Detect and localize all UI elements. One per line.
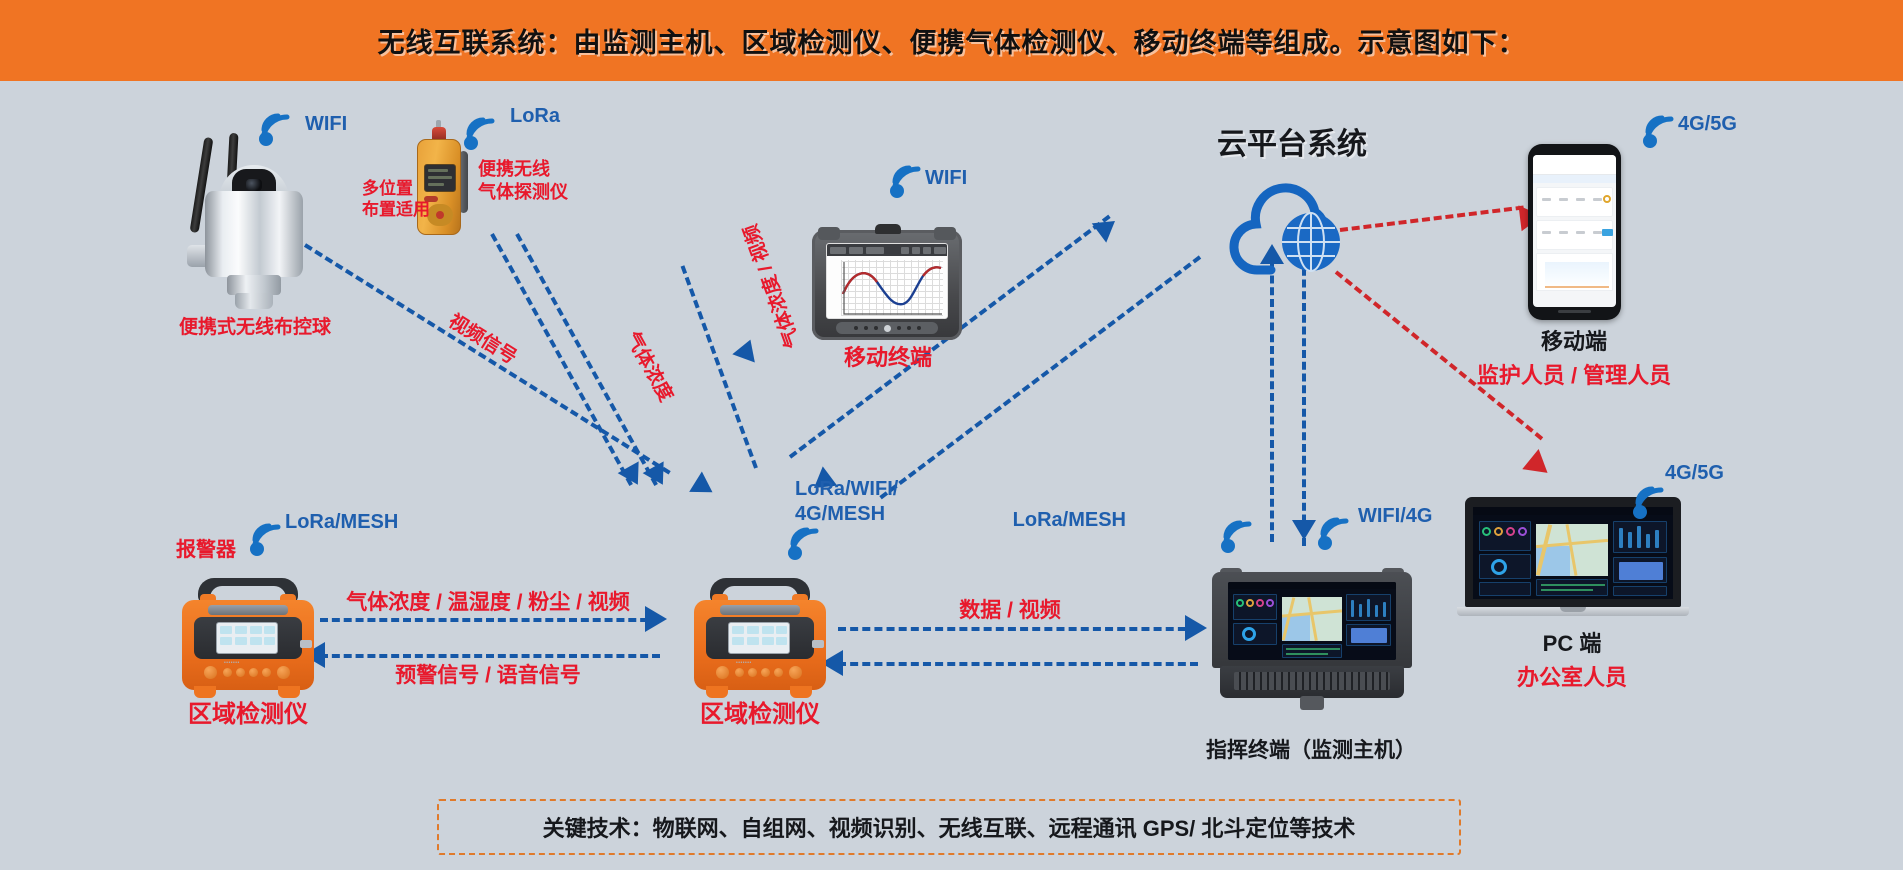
link-cloud-to-pc — [1335, 270, 1543, 440]
phone-status-bar — [1533, 155, 1616, 164]
wifi-icon — [1631, 481, 1673, 519]
arrow-cloud-to-pc — [1522, 449, 1555, 483]
command-screen[interactable] — [1228, 582, 1396, 660]
key-technology-box: 关键技术：物联网、自组网、视频识别、无线互联、远程通讯 GPS/ 北斗定位等技术 — [437, 799, 1461, 855]
alarm-note-label: 报警器 — [176, 538, 236, 563]
command-map-panel — [1282, 597, 1342, 641]
link-camera-to-detector — [304, 243, 671, 474]
wifi-icon — [1316, 512, 1358, 550]
area-detector-device: ••••••• — [690, 578, 830, 698]
phone-body — [1528, 144, 1621, 320]
wifi-icon — [1641, 110, 1683, 148]
detector-sensor-port — [300, 640, 312, 648]
laptop-screen[interactable] — [1473, 507, 1673, 599]
detector-display — [728, 622, 790, 654]
mobile-app-label: 移动端 — [1541, 328, 1607, 356]
header-banner: 无线互联系统：由监测主机、区域检测仪、便携气体检测仪、移动终端等组成。示意图如下… — [0, 0, 1903, 81]
command-terminal-label: 指挥终端（监测主机） — [1206, 738, 1416, 764]
detector-brand: ••••••• — [224, 660, 240, 666]
command-dashboard — [1228, 582, 1396, 660]
arrow-cloud-to-command — [1292, 520, 1316, 540]
laptop-notch — [1560, 607, 1586, 612]
tablet-camera-icon — [875, 224, 901, 234]
mobile-app-device — [1528, 144, 1621, 320]
camera-ball-label: 便携式无线布控球 — [179, 316, 331, 340]
rugged-lid — [1212, 572, 1412, 668]
pc-signal-label: 4G/5G — [1665, 461, 1724, 486]
camera-ball-device — [175, 135, 335, 315]
link-detector-to-mobile-terminal — [681, 265, 758, 468]
tablet-corner-left — [818, 227, 840, 240]
link-label-detector-uplink: 气体浓度 / 温湿度 / 粉尘 / 视频 — [346, 590, 630, 616]
tablet-shell — [812, 230, 962, 340]
handheld-dpad[interactable] — [427, 204, 453, 226]
diagram-canvas: 无线互联系统：由监测主机、区域检测仪、便携气体检测仪、移动终端等组成。示意图如下… — [0, 0, 1903, 870]
rugged-keyboard[interactable] — [1234, 672, 1390, 690]
tablet-status-bar — [827, 244, 948, 256]
detector-button-6[interactable] — [789, 666, 802, 679]
alarm-detector-device: ••••••• — [178, 578, 318, 698]
detector-button-3[interactable] — [748, 668, 757, 677]
detector-foot-left — [194, 686, 216, 698]
detector-brand: ••••••• — [736, 660, 752, 666]
phone-card-2 — [1536, 220, 1613, 250]
detector-button-5[interactable] — [262, 668, 271, 677]
pc-dashboard — [1473, 507, 1673, 599]
camera-base — [235, 293, 273, 309]
phone-screen[interactable] — [1533, 155, 1616, 307]
detector-display — [216, 622, 278, 654]
phone-tab-strip — [1533, 175, 1616, 183]
link-cloud-to-command — [1302, 256, 1306, 546]
area-detector-label: 区域检测仪 — [700, 700, 820, 730]
detector-sensor-port — [812, 640, 824, 648]
handheld-placement-note: 多位置 布置适用 — [362, 178, 430, 221]
detector-foot-right — [790, 686, 812, 698]
link-area-to-command-top — [838, 627, 1198, 631]
detector-button-6[interactable] — [277, 666, 290, 679]
tablet-trend-chart — [841, 260, 943, 316]
rugged-base — [1220, 666, 1404, 698]
link-command-to-cloud — [1270, 252, 1274, 542]
rugged-trackpad[interactable] — [1300, 696, 1324, 710]
link-label-data-video: 数据 / 视频 — [959, 598, 1061, 624]
camera-signal-label: WIFI — [305, 112, 347, 137]
phone-chart-card — [1536, 253, 1613, 291]
link-label-detector-downlink: 预警信号 / 语音信号 — [395, 663, 581, 689]
link-command-to-area-bottom — [838, 662, 1198, 666]
detector-button-5[interactable] — [774, 668, 783, 677]
pc-map-panel — [1536, 524, 1608, 576]
area-detector-signal-label: LoRa/WIFI/ 4G/MESH — [795, 477, 898, 527]
wifi-icon — [786, 522, 828, 560]
wifi-icon — [462, 112, 504, 150]
wifi-icon — [1219, 515, 1261, 553]
header-title: 无线互联系统：由监测主机、区域检测仪、便携气体检测仪、移动终端等组成。示意图如下… — [378, 21, 1526, 60]
command-signal-left-label: LoRa/MESH — [1013, 508, 1126, 533]
link-area-to-alarm-bottom — [320, 654, 660, 658]
cloud-globe-icon — [1223, 170, 1373, 295]
detector-button-3[interactable] — [236, 668, 245, 677]
detector-button-4[interactable] — [249, 668, 258, 677]
key-technology-text: 关键技术：物联网、自组网、视频识别、无线互联、远程通讯 GPS/ 北斗定位等技术 — [543, 811, 1356, 843]
wifi-icon — [888, 160, 930, 198]
cloud-platform-label: 云平台系统 — [1217, 126, 1367, 164]
detector-button-2[interactable] — [223, 668, 232, 677]
link-label-gas-and-video: 气体浓度 / 视频 — [739, 221, 806, 351]
detector-vent — [720, 605, 800, 615]
mobile-terminal-device — [812, 230, 962, 345]
link-label-gas-concentration: 气体浓度 — [620, 328, 678, 406]
pc-client-label: PC 端 — [1543, 630, 1602, 658]
wifi-icon — [257, 108, 299, 146]
tablet-button-bar[interactable] — [836, 322, 938, 334]
alarm-detector-label: 区域检测仪 — [188, 700, 308, 730]
arrow-detector-to-mobile-terminal — [732, 335, 761, 362]
arrow-area-to-command-top — [1185, 615, 1207, 641]
command-signal-right-label: WIFI/4G — [1358, 504, 1432, 529]
detector-button-4[interactable] — [761, 668, 770, 677]
detector-vent — [208, 605, 288, 615]
phone-app-header — [1533, 164, 1616, 175]
detector-foot-right — [278, 686, 300, 698]
arrow-camera-to-detector — [689, 472, 719, 503]
handheld-detector-label: 便携无线 气体探测仪 — [478, 158, 568, 203]
detector-button-2[interactable] — [735, 668, 744, 677]
handheld-signal-label: LoRa — [510, 104, 560, 129]
alarm-signal-label: LoRa/MESH — [285, 510, 398, 535]
camera-body — [205, 191, 303, 277]
mobile-app-signal-label: 4G/5G — [1678, 112, 1737, 137]
command-terminal-device — [1212, 568, 1412, 698]
link-alarm-to-area-top — [320, 618, 660, 622]
mobile-terminal-label: 移动终端 — [844, 344, 932, 372]
detector-button-1[interactable] — [204, 666, 217, 679]
phone-card-1 — [1536, 187, 1613, 217]
detector-button-1[interactable] — [716, 666, 729, 679]
tablet-corner-right — [934, 227, 956, 240]
arrow-detector-to-cloud — [1092, 211, 1122, 242]
wifi-icon — [248, 518, 290, 556]
camera-neck — [227, 275, 281, 295]
mobile-app-role-label: 监护人员 / 管理人员 — [1477, 362, 1671, 390]
mobile-terminal-signal-label: WIFI — [925, 166, 967, 191]
arrow-alarm-to-area-top — [645, 606, 667, 632]
phone-home-indicator — [1558, 310, 1591, 313]
detector-foot-left — [706, 686, 728, 698]
tablet-screen — [826, 243, 948, 319]
pc-client-role-label: 办公室人员 — [1517, 664, 1627, 692]
